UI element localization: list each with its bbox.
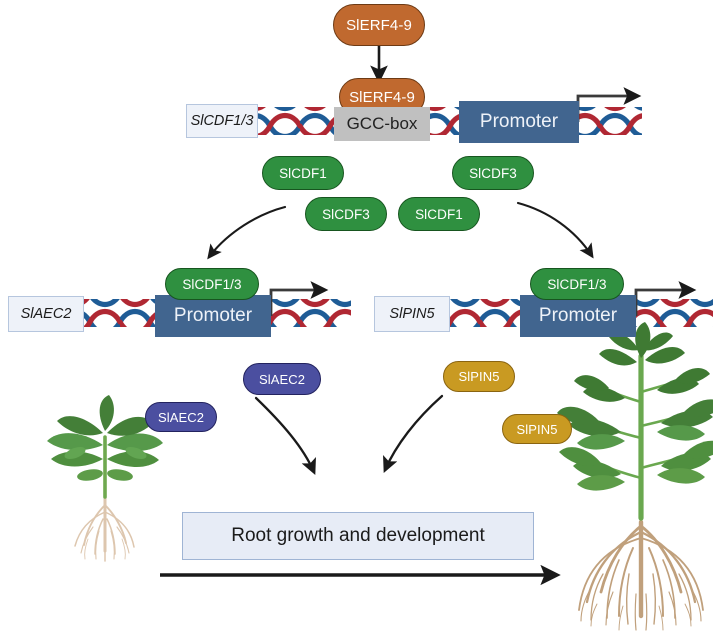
gene-label-slcdf1-3[interactable]: SlCDF1/3	[186, 104, 258, 138]
slcdf1-protein-2[interactable]: SlCDF1	[398, 197, 480, 231]
slcdf1-protein-1-label: SlCDF1	[279, 166, 327, 181]
slpin5-protein-1-label: SlPIN5	[458, 369, 499, 384]
slaec2-protein-1[interactable]: SlAEC2	[243, 363, 321, 395]
gene-label-slcdf1-3-text: SlCDF1/3	[191, 113, 254, 129]
gcc-box-binding-site[interactable]: GCC-box	[334, 107, 430, 141]
slerf4-9-free-label: SlERF4-9	[346, 17, 412, 34]
transcription-arrow-top	[578, 96, 638, 122]
arrow-slaec2-to-root	[256, 398, 314, 472]
root-growth-outcome-box[interactable]: Root growth and development	[182, 512, 534, 560]
slcdf3-protein-2-label: SlCDF3	[469, 166, 517, 181]
slaec2-protein-1-label: SlAEC2	[259, 372, 305, 387]
arrow-cdf-to-slpin5	[518, 203, 592, 256]
slaec2-protein-2-label: SlAEC2	[158, 410, 204, 425]
transcription-arrow-right	[636, 290, 693, 316]
slcdf3-protein-2[interactable]: SlCDF3	[452, 156, 534, 190]
slpin5-protein-1[interactable]: SlPIN5	[443, 361, 515, 392]
slcdf1-protein-2-label: SlCDF1	[415, 207, 463, 222]
promoter-box-slcdf1-3[interactable]: Promoter	[459, 101, 579, 143]
dna-strand-top	[246, 107, 642, 135]
promoter-label-left: Promoter	[174, 305, 252, 327]
plant-large-right	[557, 322, 713, 630]
gene-label-slpin5[interactable]: SlPIN5	[374, 296, 450, 332]
slcdf3-protein-1[interactable]: SlCDF3	[305, 197, 387, 231]
slcdf1-protein-1[interactable]: SlCDF1	[262, 156, 344, 190]
transcription-arrow-left	[271, 290, 325, 316]
slcdf1-3-bound-right-label: SlCDF1/3	[547, 277, 606, 292]
slpin5-protein-2[interactable]: SlPIN5	[502, 414, 572, 444]
slerf4-9-free-protein[interactable]: SlERF4-9	[333, 4, 425, 46]
slcdf1-3-bound-left[interactable]: SlCDF1/3	[165, 268, 259, 300]
promoter-label-right: Promoter	[539, 305, 617, 327]
slcdf1-3-bound-left-label: SlCDF1/3	[182, 277, 241, 292]
gene-label-slaec2-text: SlAEC2	[21, 306, 72, 322]
slpin5-protein-2-label: SlPIN5	[516, 422, 557, 437]
arrow-slpin5-to-root	[385, 396, 442, 470]
root-growth-outcome-label: Root growth and development	[231, 525, 485, 547]
gene-label-slaec2[interactable]: SlAEC2	[8, 296, 84, 332]
slaec2-protein-2[interactable]: SlAEC2	[145, 402, 217, 432]
arrow-cdf-to-slaec2	[209, 207, 285, 257]
promoter-box-slaec2[interactable]: Promoter	[155, 295, 271, 337]
gene-label-slpin5-text: SlPIN5	[389, 306, 434, 322]
slerf4-9-bound-label: SlERF4-9	[349, 89, 415, 106]
promoter-box-slpin5[interactable]: Promoter	[520, 295, 636, 337]
pathway-figure: SlERF4-9 SlERF4-9 GCC-box SlCDF1/3 Promo…	[0, 0, 713, 633]
gcc-box-label: GCC-box	[347, 114, 418, 134]
slcdf1-3-bound-right[interactable]: SlCDF1/3	[530, 268, 624, 300]
slcdf3-protein-1-label: SlCDF3	[322, 207, 370, 222]
promoter-label-top: Promoter	[480, 111, 558, 133]
